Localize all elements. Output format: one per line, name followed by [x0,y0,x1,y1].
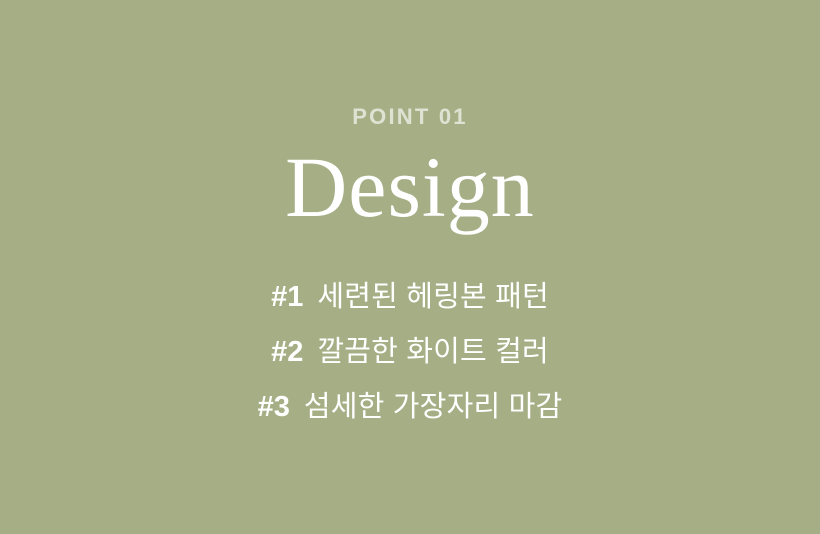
feature-marker: #2 [271,333,303,372]
slide-kicker: POINT 01 [0,104,820,130]
feature-label: 섬세한 가장자리 마감 [304,388,562,427]
feature-marker: #3 [258,388,290,427]
feature-label: 세련된 헤링본 패턴 [317,278,549,317]
slide-title: Design [0,140,820,235]
feature-marker: #1 [271,278,303,317]
feature-item-1: #1 세련된 헤링본 패턴 [271,278,549,317]
feature-item-2: #2 깔끔한 화이트 컬러 [271,333,549,372]
feature-list: #1 세련된 헤링본 패턴 #2 깔끔한 화이트 컬러 #3 섬세한 가장자리 … [0,278,820,427]
design-point-slide: POINT 01 Design #1 세련된 헤링본 패턴 #2 깔끔한 화이트… [0,0,820,534]
feature-item-3: #3 섬세한 가장자리 마감 [258,388,563,427]
feature-label: 깔끔한 화이트 컬러 [317,333,549,372]
